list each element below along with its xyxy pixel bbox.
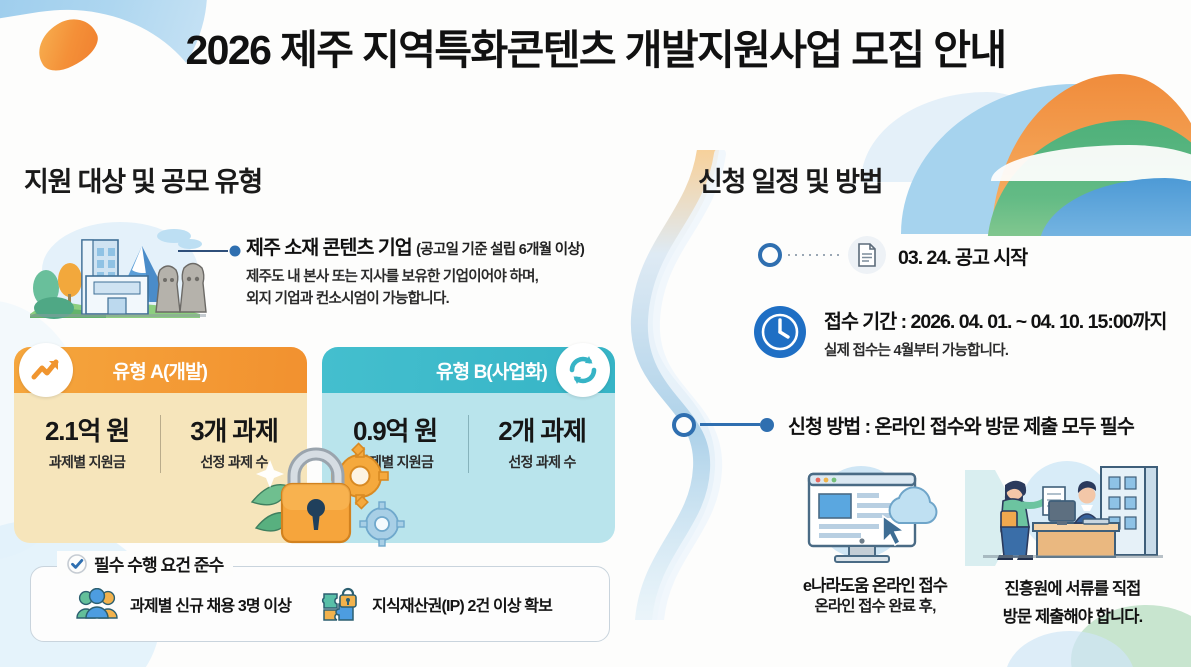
poster-canvas: 2026 제주 지역특화콘텐츠 개발지원사업 모집 안내 지원 대상 및 공모 … (0, 0, 1191, 667)
wave-band-blue-pale (901, 84, 1191, 234)
type-a-badge (19, 343, 73, 397)
requirements-box: 필수 수행 요건 준수 과제별 신규 채용 3명 이상 (30, 566, 610, 642)
requirement-hiring-text: 과제별 신규 채용 3명 이상 (130, 592, 291, 616)
requirement-item-ip: 지식재산권(IP) 2건 이상 확보 (321, 586, 552, 622)
submission-visit-caption-line1: 진흥원에 서류를 직접 (965, 578, 1180, 600)
submission-visit-caption-line2: 방문 제출해야 합니다. (965, 606, 1180, 628)
check-circle-icon (67, 554, 87, 574)
desk-submission-icon (975, 455, 1171, 567)
timeline-period-text: 접수 기간 : 2026. 04. 01. ~ 04. 10. 15:00까지 (824, 305, 1166, 334)
growth-arrow-icon (29, 353, 63, 387)
lock-and-gears-illustration (250, 432, 422, 550)
eligibility-description-line1: 제주도 내 본사 또는 지사를 보유한 기업이어야 하며, (246, 266, 634, 288)
timeline-solid-connector (700, 423, 760, 426)
timeline-notice-text: 03. 24. 공고 시작 (898, 241, 1027, 270)
type-b-count-label: 선정 과제 수 (469, 452, 615, 472)
requirements-legend: 필수 수행 요건 준수 (57, 551, 233, 576)
type-a-funding-stat: 2.1억 원 과제별 지원금 (14, 411, 160, 472)
section-heading-eligibility: 지원 대상 및 공모 유형 (24, 160, 262, 199)
wave-band-green (987, 120, 1191, 250)
requirement-ip-text: 지식재산권(IP) 2건 이상 확보 (372, 592, 552, 616)
page-title: 2026 제주 지역특화콘텐츠 개발지원사업 모집 안내 (0, 16, 1191, 76)
type-b-badge (556, 343, 610, 397)
type-b-count-value: 2개 과제 (469, 411, 615, 448)
section-heading-schedule: 신청 일정 및 방법 (698, 160, 882, 199)
sky-wave-decoration (861, 92, 1071, 182)
center-divider-curve (612, 150, 742, 620)
timeline-item-application-method: 신청 방법 : 온라인 접수와 방문 제출 모두 필수 (672, 410, 1134, 439)
blue-blob-bottom-right (1005, 631, 1135, 667)
document-icon-wrapper (848, 236, 886, 274)
submission-online-caption: e나라도움 온라인 접수 (760, 575, 990, 597)
wave-band-blue-deep (1039, 178, 1191, 248)
eligibility-description-line2: 외지 기업과 컨소시엄이 가능합니다. (246, 288, 634, 310)
submission-online-subcaption: 온라인 접수 완료 후, (760, 597, 990, 618)
jeju-city-illustration (24, 218, 214, 322)
refresh-cycle-icon (565, 352, 601, 388)
timeline-ring-marker-method (672, 413, 696, 437)
timeline-method-text: 신청 방법 : 온라인 접수와 방문 제출 모두 필수 (788, 410, 1134, 439)
timeline-dotted-connector (788, 254, 842, 256)
puzzle-lock-icon (321, 586, 361, 622)
clock-icon (752, 304, 808, 360)
type-b-count-stat: 2개 과제 선정 과제 수 (469, 411, 615, 472)
timeline-item-notice-start: 03. 24. 공고 시작 (758, 236, 1027, 274)
type-a-funding-label: 과제별 지원금 (14, 452, 160, 472)
requirements-legend-text: 필수 수행 요건 준수 (94, 551, 223, 576)
eligibility-note: (공고일 기준 설립 6개월 이상) (416, 242, 584, 258)
type-a-funding-value: 2.1억 원 (14, 411, 160, 448)
submission-online-panel: e나라도움 온라인 접수 온라인 접수 완료 후, (760, 462, 990, 618)
eligibility-connector-line (178, 245, 242, 257)
timeline-ring-marker (758, 243, 782, 267)
bullet-dot-icon (760, 418, 774, 432)
monitor-cloud-icon (787, 462, 963, 566)
eligibility-text-block: 제주 소재 콘텐츠 기업 (공고일 기준 설립 6개월 이상) 제주도 내 본사… (246, 231, 634, 311)
document-icon (857, 243, 877, 267)
timeline-item-application-period: 접수 기간 : 2026. 04. 01. ~ 04. 10. 15:00까지 … (752, 304, 1166, 360)
people-group-icon (75, 588, 119, 620)
submission-visit-panel: 진흥원에 서류를 직접 방문 제출해야 합니다. (965, 455, 1180, 629)
wave-band-orange (991, 74, 1191, 244)
wave-band-white-streak (991, 145, 1191, 181)
requirement-item-hiring: 과제별 신규 채용 3명 이상 (75, 588, 291, 620)
timeline-period-subtext: 실제 접수는 4월부터 가능합니다. (824, 339, 1166, 360)
eligibility-title: 제주 소재 콘텐츠 기업 (246, 237, 412, 259)
